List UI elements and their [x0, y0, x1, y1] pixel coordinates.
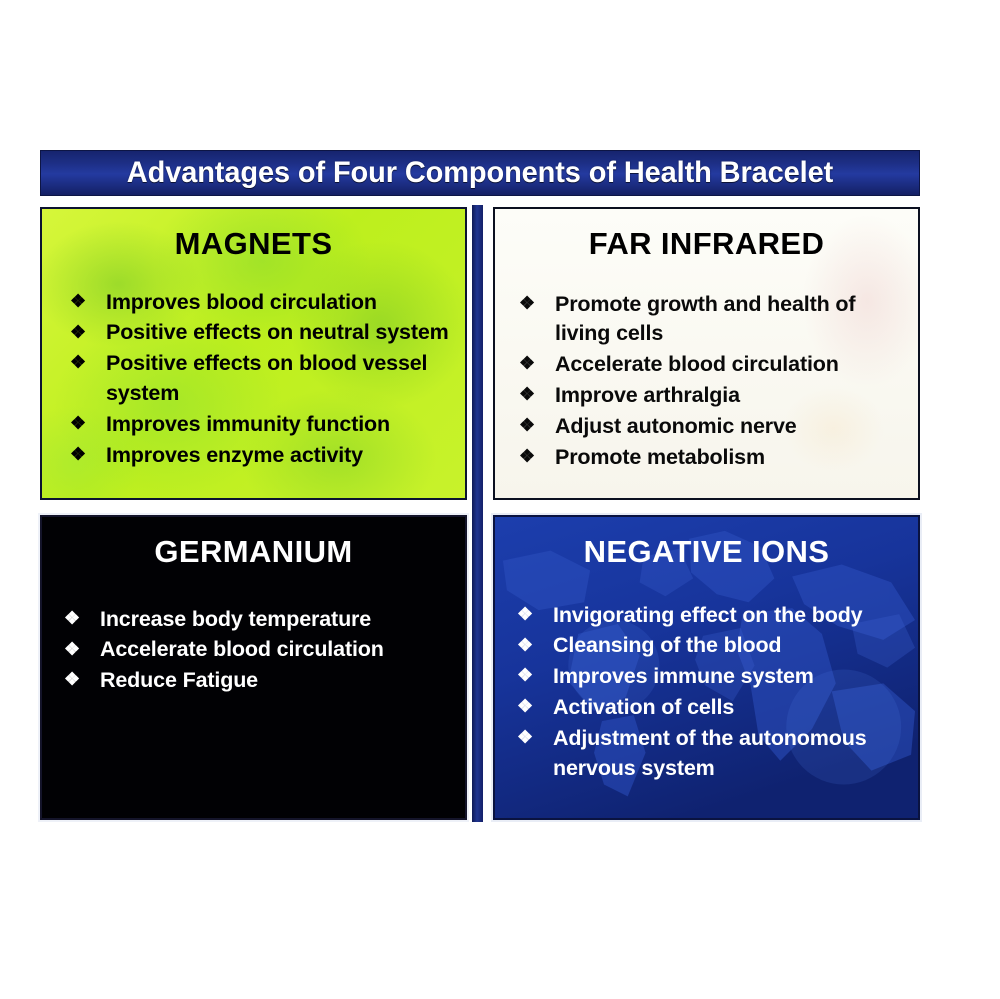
infographic-title-bar: Advantages of Four Components of Health … [40, 150, 920, 196]
list-item-label: Improve arthralgia [555, 383, 740, 407]
list-item: ❖ Promote growth and health of living ce… [517, 290, 902, 350]
panel-far-infrared-header: FAR INFRARED [495, 228, 918, 261]
diamond-bullet-icon: ❖ [519, 382, 535, 407]
list-item-label: Adjustment of the autonomous nervous sys… [553, 726, 867, 780]
list-item-label: Improves blood circulation [106, 290, 377, 314]
diamond-bullet-icon: ❖ [519, 351, 535, 376]
list-item-label: Invigorating effect on the body [553, 603, 863, 627]
diamond-bullet-icon: ❖ [517, 694, 533, 719]
page-title: Advantages of Four Components of Health … [127, 158, 833, 188]
panel-magnets-list: ❖ Improves blood circulation ❖ Positive … [42, 288, 465, 471]
panel-germanium: GERMANIUM ❖ Increase body temperature ❖ … [40, 515, 467, 820]
components-grid: MAGNETS ❖ Improves blood circulation ❖ P… [40, 207, 920, 820]
list-item: ❖ Accelerate blood circulation [517, 350, 902, 380]
diamond-bullet-icon: ❖ [70, 442, 86, 467]
list-item-label: Improves immunity function [106, 412, 390, 436]
list-item-label: Improves immune system [553, 664, 814, 688]
panel-magnets: MAGNETS ❖ Improves blood circulation ❖ P… [40, 207, 467, 500]
diamond-bullet-icon: ❖ [64, 637, 80, 662]
panel-germanium-list: ❖ Increase body temperature ❖ Accelerate… [42, 605, 465, 697]
list-item-label: Positive effects on blood vessel system [106, 351, 427, 405]
list-item: ❖ Improve arthralgia [517, 381, 902, 411]
diamond-bullet-icon: ❖ [70, 411, 86, 436]
list-item-label: Adjust autonomic nerve [555, 414, 797, 438]
list-item: ❖ Accelerate blood circulation [62, 635, 449, 665]
panel-far-infrared: FAR INFRARED ❖ Promote growth and health… [493, 207, 920, 500]
diamond-bullet-icon: ❖ [64, 606, 80, 631]
list-item: ❖ Activation of cells [515, 693, 906, 723]
list-item: ❖ Promote metabolism [517, 443, 902, 473]
diamond-bullet-icon: ❖ [517, 602, 533, 627]
list-item-label: Improves enzyme activity [106, 443, 363, 467]
list-item: ❖ Positive effects on blood vessel syste… [68, 349, 451, 409]
panel-magnets-header: MAGNETS [42, 228, 465, 261]
diamond-bullet-icon: ❖ [517, 725, 533, 750]
diamond-bullet-icon: ❖ [64, 667, 80, 692]
list-item: ❖ Increase body temperature [62, 605, 449, 635]
list-item: ❖ Adjustment of the autonomous nervous s… [515, 724, 906, 784]
list-item-label: Positive effects on neutral system [106, 320, 449, 344]
column-divider [472, 205, 483, 822]
list-item-label: Accelerate blood circulation [555, 352, 839, 376]
list-item-label: Increase body temperature [100, 607, 371, 631]
list-item: ❖ Cleansing of the blood [515, 631, 906, 661]
list-item-label: Promote metabolism [555, 445, 765, 469]
diamond-bullet-icon: ❖ [519, 413, 535, 438]
list-item-label: Accelerate blood circulation [100, 637, 384, 661]
list-item: ❖ Improves immune system [515, 662, 906, 692]
panel-negative-ions-header: NEGATIVE IONS [495, 536, 918, 569]
diamond-bullet-icon: ❖ [519, 444, 535, 469]
list-item-label: Cleansing of the blood [553, 633, 781, 657]
list-item: ❖ Improves blood circulation [68, 288, 451, 318]
diamond-bullet-icon: ❖ [70, 289, 86, 314]
diamond-bullet-icon: ❖ [517, 633, 533, 658]
diamond-bullet-icon: ❖ [70, 320, 86, 345]
infographic-root: Advantages of Four Components of Health … [40, 150, 920, 820]
list-item-label: Reduce Fatigue [100, 668, 258, 692]
list-item-label: Activation of cells [553, 695, 734, 719]
panel-negative-ions: NEGATIVE IONS ❖ Invigorating effect on t… [493, 515, 920, 820]
panel-far-infrared-list: ❖ Promote growth and health of living ce… [495, 290, 918, 473]
diamond-bullet-icon: ❖ [517, 663, 533, 688]
list-item: ❖ Adjust autonomic nerve [517, 412, 902, 442]
list-item: ❖ Positive effects on neutral system [68, 318, 451, 348]
panel-germanium-header: GERMANIUM [42, 536, 465, 569]
panel-negative-ions-list: ❖ Invigorating effect on the body ❖ Clea… [495, 601, 918, 784]
list-item-label: Promote growth and health of living cell… [555, 292, 855, 346]
diamond-bullet-icon: ❖ [70, 350, 86, 375]
list-item: ❖ Invigorating effect on the body [515, 601, 906, 631]
diamond-bullet-icon: ❖ [519, 291, 535, 316]
list-item: ❖ Improves immunity function [68, 410, 451, 440]
list-item: ❖ Improves enzyme activity [68, 441, 451, 471]
list-item: ❖ Reduce Fatigue [62, 666, 449, 696]
